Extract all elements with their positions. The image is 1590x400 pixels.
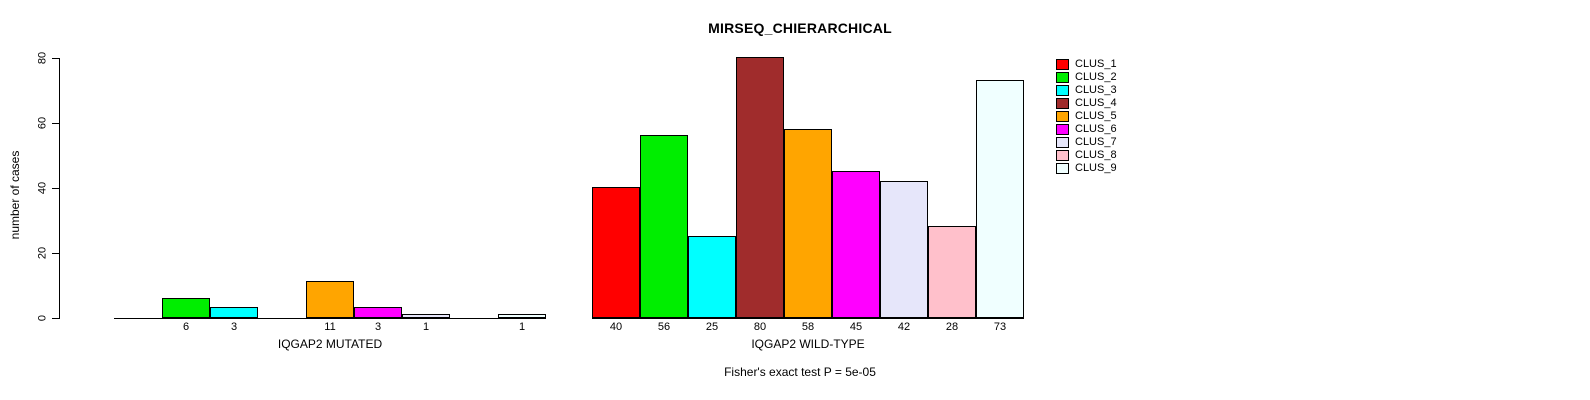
bar-value-label: 45 xyxy=(832,321,880,333)
legend-label: CLUS_4 xyxy=(1075,98,1117,109)
legend-item-clus_5[interactable]: CLUS_5 xyxy=(1056,110,1117,123)
bar[interactable] xyxy=(880,181,928,319)
legend-label: CLUS_2 xyxy=(1075,72,1117,83)
legend-swatch-icon xyxy=(1056,98,1069,109)
chart-canvas: MIRSEQ_CHIERARCHICAL 020406080 number of… xyxy=(0,0,1590,400)
legend-swatch-icon xyxy=(1056,124,1069,135)
legend-label: CLUS_5 xyxy=(1075,111,1117,122)
legend-item-clus_8[interactable]: CLUS_8 xyxy=(1056,149,1117,162)
bar-value-label: 25 xyxy=(688,321,736,333)
panel-label: IQGAP2 WILD-TYPE xyxy=(592,338,1024,351)
y-tick-label: 60 xyxy=(36,116,50,130)
y-tick-60 xyxy=(52,123,59,124)
bar[interactable] xyxy=(976,80,1024,318)
legend-swatch-icon xyxy=(1056,72,1069,83)
y-tick-20 xyxy=(52,253,59,254)
bar[interactable] xyxy=(592,187,640,318)
legend-item-clus_7[interactable]: CLUS_7 xyxy=(1056,136,1117,149)
bar-value-label: 73 xyxy=(976,321,1024,333)
legend-label: CLUS_9 xyxy=(1075,163,1117,174)
bar[interactable] xyxy=(162,298,210,319)
legend-label: CLUS_7 xyxy=(1075,137,1117,148)
legend-item-clus_4[interactable]: CLUS_4 xyxy=(1056,97,1117,110)
legend-label: CLUS_6 xyxy=(1075,124,1117,135)
bar[interactable] xyxy=(832,171,880,318)
legend-item-clus_2[interactable]: CLUS_2 xyxy=(1056,71,1117,84)
legend-item-clus_1[interactable]: CLUS_1 xyxy=(1056,58,1117,71)
legend-swatch-icon xyxy=(1056,111,1069,122)
legend-swatch-icon xyxy=(1056,137,1069,148)
bar[interactable] xyxy=(306,281,354,318)
bar[interactable] xyxy=(354,307,402,318)
bar-value-label: 42 xyxy=(880,321,928,333)
legend-label: CLUS_1 xyxy=(1075,59,1117,70)
legend: CLUS_1CLUS_2CLUS_3CLUS_4CLUS_5CLUS_6CLUS… xyxy=(1056,58,1117,175)
legend-item-clus_9[interactable]: CLUS_9 xyxy=(1056,162,1117,175)
y-tick-label: 80 xyxy=(36,51,50,65)
bar-value-label: 56 xyxy=(640,321,688,333)
legend-label: CLUS_8 xyxy=(1075,150,1117,161)
panel-baseline xyxy=(592,318,1024,319)
y-tick-80 xyxy=(52,58,59,59)
y-tick-label-text: 80 xyxy=(38,52,49,64)
y-tick-40 xyxy=(52,188,59,189)
y-tick-0 xyxy=(52,318,59,319)
bar[interactable] xyxy=(928,226,976,318)
bar[interactable] xyxy=(210,307,258,318)
bar[interactable] xyxy=(688,236,736,318)
y-tick-label: 40 xyxy=(36,181,50,195)
legend-swatch-icon xyxy=(1056,85,1069,96)
y-tick-label-text: 0 xyxy=(38,315,49,321)
bar-value-label: 40 xyxy=(592,321,640,333)
bar-value-label: 3 xyxy=(354,321,402,333)
bar-value-label: 1 xyxy=(498,321,546,333)
bar-value-label: 11 xyxy=(306,321,354,333)
bar-value-label: 58 xyxy=(784,321,832,333)
legend-swatch-icon xyxy=(1056,163,1069,174)
bar[interactable] xyxy=(736,57,784,318)
legend-swatch-icon xyxy=(1056,59,1069,70)
bar-value-label: 6 xyxy=(162,321,210,333)
bar[interactable] xyxy=(784,129,832,319)
y-axis-line xyxy=(59,58,60,319)
legend-label: CLUS_3 xyxy=(1075,85,1117,96)
bar[interactable] xyxy=(640,135,688,318)
y-axis-title: number of cases xyxy=(8,135,22,255)
legend-swatch-icon xyxy=(1056,150,1069,161)
bar[interactable] xyxy=(402,314,450,318)
panel-baseline xyxy=(114,318,546,319)
chart-caption: Fisher's exact test P = 5e-05 xyxy=(0,365,1590,379)
legend-item-clus_6[interactable]: CLUS_6 xyxy=(1056,123,1117,136)
y-tick-label: 20 xyxy=(36,246,50,260)
chart-title: MIRSEQ_CHIERARCHICAL xyxy=(0,20,1590,36)
legend-item-clus_3[interactable]: CLUS_3 xyxy=(1056,84,1117,97)
y-tick-label-text: 40 xyxy=(38,182,49,194)
panel-label: IQGAP2 MUTATED xyxy=(114,338,546,351)
y-tick-label-text: 20 xyxy=(38,247,49,259)
y-tick-label-text: 60 xyxy=(38,117,49,129)
bar-value-label: 80 xyxy=(736,321,784,333)
y-tick-label: 0 xyxy=(36,311,50,325)
bar[interactable] xyxy=(498,314,546,318)
y-axis-title-text: number of cases xyxy=(9,151,21,240)
bar-value-label: 1 xyxy=(402,321,450,333)
bar-value-label: 28 xyxy=(928,321,976,333)
bar-value-label: 3 xyxy=(210,321,258,333)
